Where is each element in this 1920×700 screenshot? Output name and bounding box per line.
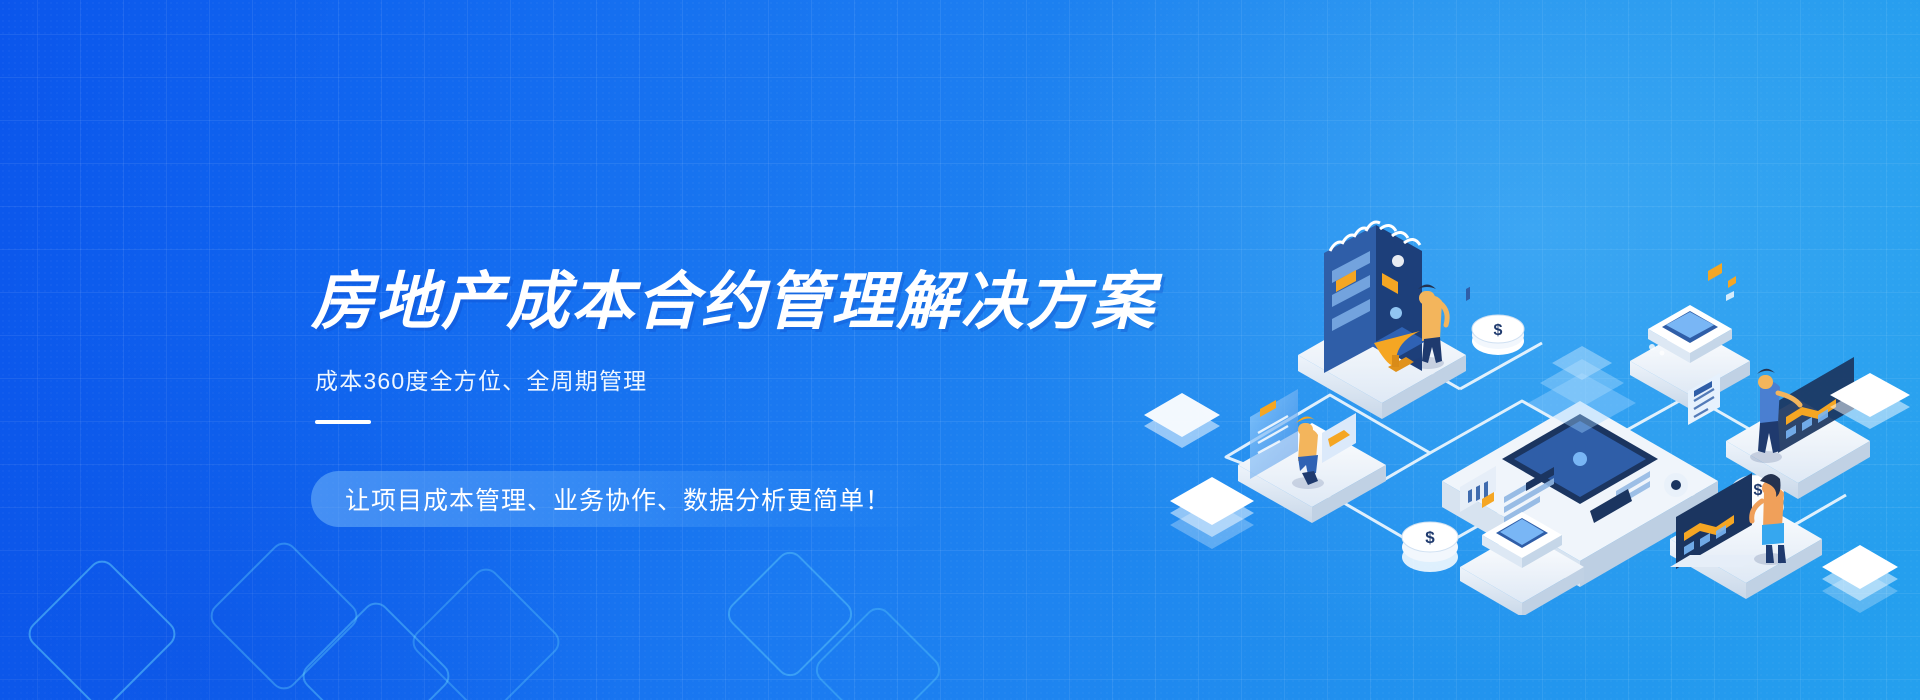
title-divider [315, 420, 371, 424]
floating-layer-tiles-lower [1170, 477, 1254, 549]
decor-diamond-2 [205, 537, 363, 695]
decor-diamond-1 [23, 555, 181, 700]
woman-with-laptop-platform [1238, 389, 1386, 523]
svg-text:$: $ [1425, 528, 1435, 547]
calendar-platform [1298, 222, 1466, 419]
decor-diamond-3 [297, 597, 455, 700]
svg-text:$: $ [1754, 482, 1763, 499]
isometric-cost-management-illustration: $ [1130, 195, 1920, 615]
dollar-coin-stack-b: $ [1402, 522, 1458, 572]
man-with-chart-screen-platform [1688, 357, 1870, 499]
decor-diamond-6 [810, 602, 946, 700]
svg-text:$: $ [1494, 322, 1503, 339]
monitor-platform-small-top [1630, 263, 1750, 409]
floating-layer-tiles-right-bottom [1822, 545, 1898, 613]
page-subtitle: 成本360度全方位、全周期管理 [315, 362, 1071, 396]
dollar-coin-stack-a: $ [1472, 315, 1524, 355]
decor-diamond-4 [407, 563, 565, 700]
tagline-text: 让项目成本管理、业务协作、数据分析更简单！ [345, 481, 891, 517]
floating-layer-tiles-left [1144, 393, 1220, 448]
hero-banner: 房地产成本合约管理解决方案 成本360度全方位、全周期管理 让项目成本管理、业务… [0, 0, 1920, 700]
tagline-pill: 让项目成本管理、业务协作、数据分析更简单！ [311, 471, 936, 527]
hero-copy-block: 房地产成本合约管理解决方案 成本360度全方位、全周期管理 [311, 268, 1071, 424]
page-title: 房地产成本合约管理解决方案 [311, 268, 1071, 336]
decor-diamond-5 [722, 546, 858, 682]
